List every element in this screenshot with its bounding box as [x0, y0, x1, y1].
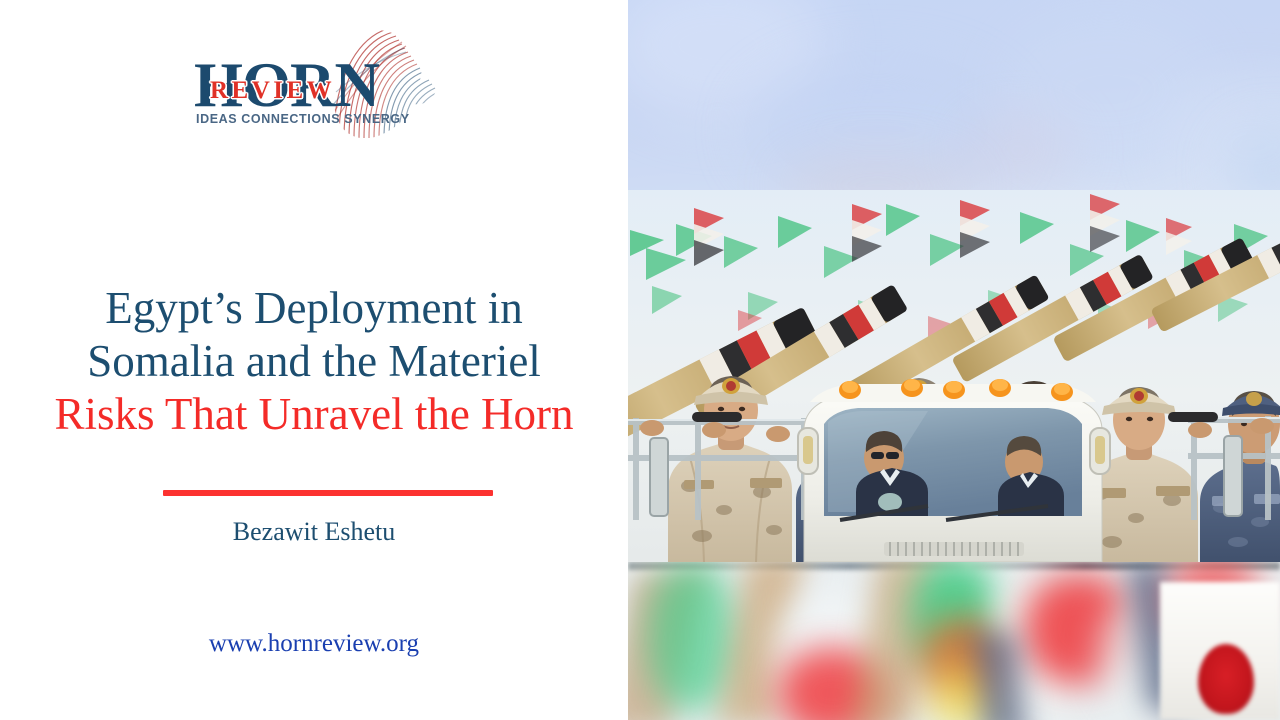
- cover-photo: [628, 0, 1280, 720]
- logo-wordmark: HORN REVIEW: [194, 54, 394, 116]
- horn-review-logo[interactable]: HORN REVIEW IDEAS CONNECTIONS SYNERGY: [190, 26, 440, 141]
- photo-bottom-blur-band: [628, 562, 1280, 720]
- author-name: Bezawit Eshetu: [0, 515, 628, 549]
- red-divider-rule: [163, 490, 493, 496]
- website-url[interactable]: www.hornreview.org: [0, 627, 628, 660]
- photo-top-blur-band: [628, 0, 1280, 190]
- title-line-3: Risks That Unravel the Horn: [0, 388, 628, 441]
- article-title: Egypt’s Deployment in Somalia and the Ma…: [0, 282, 628, 441]
- logo-review-text: REVIEW: [210, 78, 335, 103]
- military-emblem-icon: [1198, 644, 1254, 714]
- title-line-1: Egypt’s Deployment in: [0, 282, 628, 335]
- photo-main-scene: [628, 190, 1280, 562]
- logo-tagline-text: IDEAS CONNECTIONS SYNERGY: [196, 112, 410, 126]
- slide-canvas: HORN REVIEW IDEAS CONNECTIONS SYNERGY Eg…: [0, 0, 1280, 720]
- title-line-2: Somalia and the Materiel: [0, 335, 628, 388]
- left-text-panel: HORN REVIEW IDEAS CONNECTIONS SYNERGY Eg…: [0, 0, 628, 720]
